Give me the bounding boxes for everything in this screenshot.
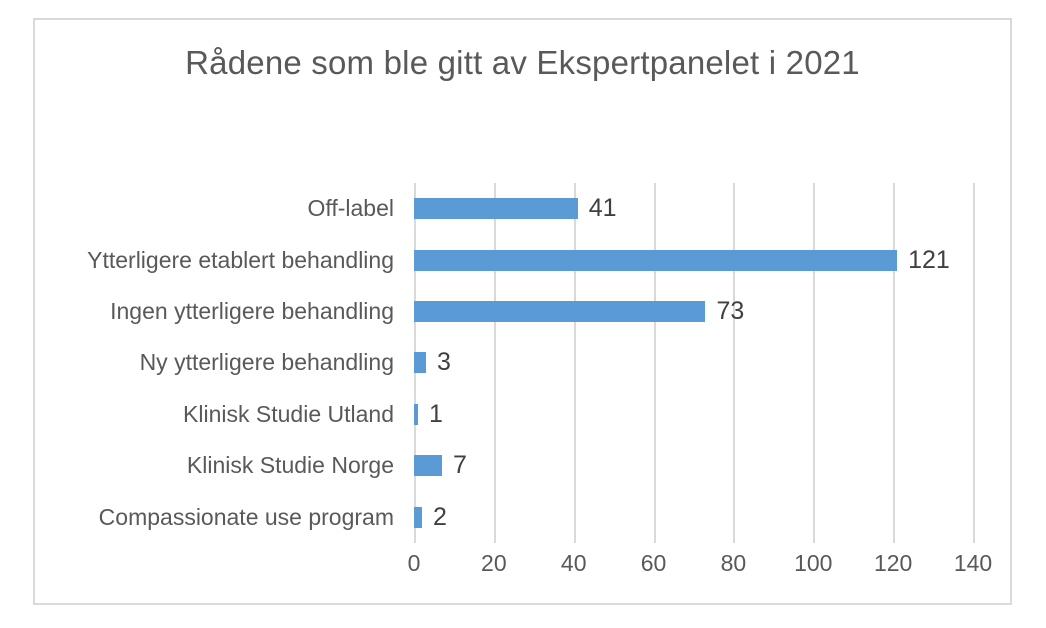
value-axis-labels: 020406080100120140 — [414, 550, 973, 590]
x-axis-tick-label: 40 — [561, 550, 587, 577]
x-axis-tick-label: 20 — [481, 550, 507, 577]
category-label: Ingen ytterligere behandling — [15, 286, 394, 337]
x-axis-tick-label: 100 — [794, 550, 832, 577]
bar[interactable] — [414, 301, 705, 322]
category-label: Off-label — [15, 183, 394, 234]
category-label: Klinisk Studie Utland — [15, 389, 394, 440]
chart-frame: Rådene som ble gitt av Ekspertpanelet i … — [33, 18, 1012, 605]
bar[interactable] — [414, 507, 422, 528]
bar-row[interactable]: 41 — [414, 183, 973, 234]
x-axis-tick-label: 140 — [954, 550, 992, 577]
category-label: Compassionate use program — [15, 492, 394, 543]
category-label: Ny ytterligere behandling — [15, 337, 394, 388]
bar-value-label: 7 — [453, 453, 467, 478]
bar-value-label: 1 — [429, 402, 443, 427]
bar-value-label: 41 — [589, 196, 617, 221]
x-axis-tick-label: 60 — [641, 550, 667, 577]
bar[interactable] — [414, 198, 578, 219]
bar-row[interactable]: 2 — [414, 492, 973, 543]
category-axis-labels: Off-labelYtterligere etablert behandling… — [35, 183, 414, 543]
bar[interactable] — [414, 404, 418, 425]
bar[interactable] — [414, 455, 442, 476]
x-axis-tick-label: 0 — [408, 550, 421, 577]
x-axis-tick-label: 80 — [721, 550, 747, 577]
category-label: Ytterligere etablert behandling — [15, 234, 394, 285]
bar-value-label: 73 — [716, 299, 744, 324]
plot-area: 41121733172 — [414, 183, 973, 543]
bar-row[interactable]: 121 — [414, 234, 973, 285]
bar-value-label: 3 — [437, 350, 451, 375]
bar-value-label: 2 — [433, 505, 447, 530]
bar-row[interactable]: 1 — [414, 389, 973, 440]
bar-row[interactable]: 7 — [414, 440, 973, 491]
bar[interactable] — [414, 352, 426, 373]
bar-value-label: 121 — [908, 248, 950, 273]
bar[interactable] — [414, 250, 897, 271]
gridline — [973, 183, 975, 543]
category-label: Klinisk Studie Norge — [15, 440, 394, 491]
bar-series: 41121733172 — [414, 183, 973, 543]
chart-title: Rådene som ble gitt av Ekspertpanelet i … — [35, 44, 1010, 82]
x-axis-tick-label: 120 — [874, 550, 912, 577]
bar-row[interactable]: 3 — [414, 337, 973, 388]
bar-row[interactable]: 73 — [414, 286, 973, 337]
